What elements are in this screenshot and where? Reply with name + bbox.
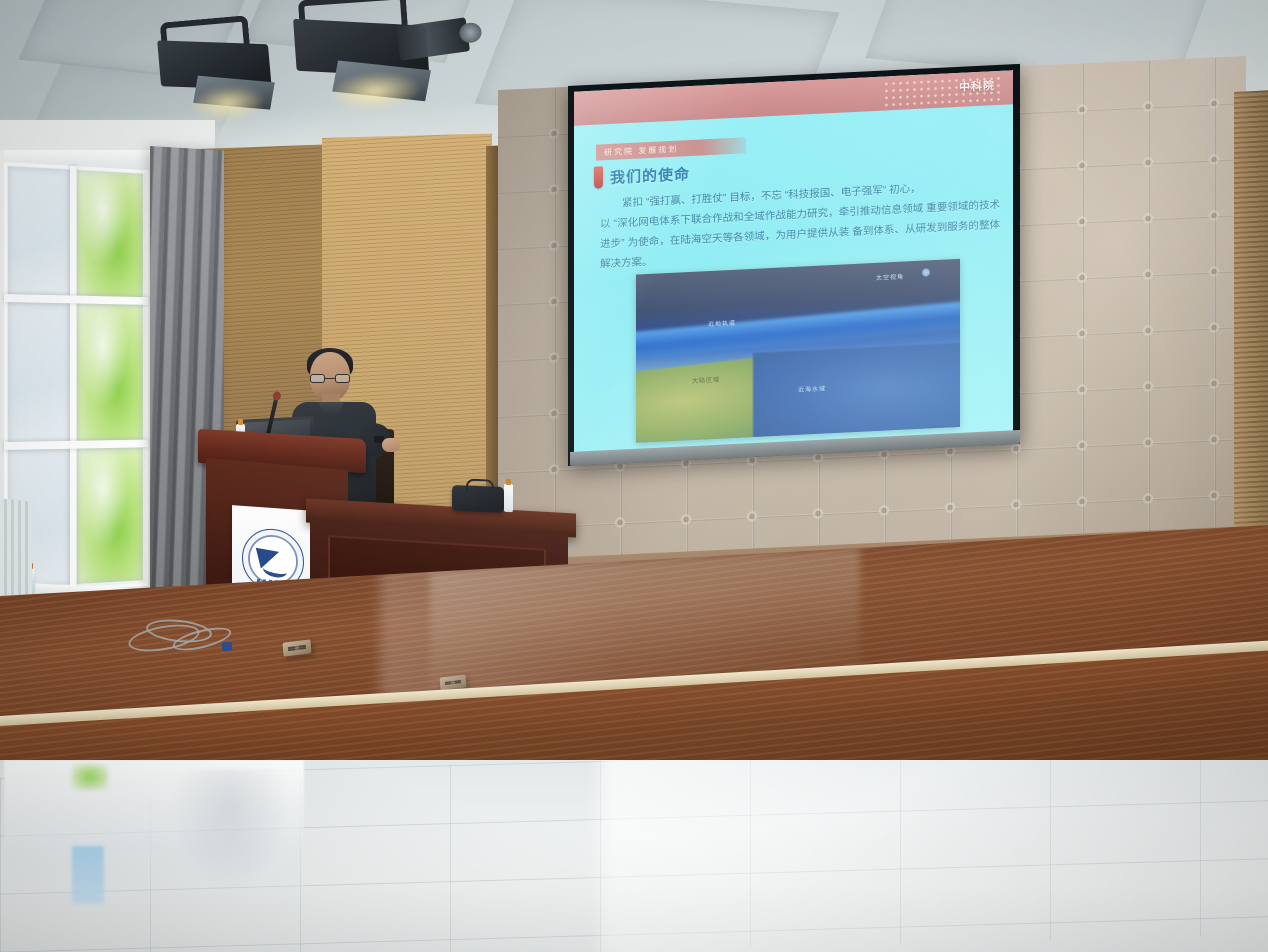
photo-label-top-right: 太空视角 [876, 272, 904, 282]
projection-screen-frame: 中科院 研究院 发展规划 我们的使命 紧扣 “强打赢、打胜仗” 目标，不忘 “科… [568, 64, 1020, 466]
window-pane [8, 166, 70, 297]
glasses-icon [310, 374, 350, 383]
stage-spotlight-right-icon [278, 0, 451, 127]
stage-spotlight-left-icon [146, 12, 290, 128]
slide-title-row: 我们的使命 [594, 162, 690, 189]
photo-label-mid-left: 近地轨道 [708, 318, 736, 328]
window-pane [8, 302, 70, 444]
slide-brandmark: 中科院 [959, 77, 995, 95]
slide-title-bullet-icon [594, 166, 603, 188]
floor-podium-reflection [170, 770, 290, 890]
photo-label-land: 大陆区域 [692, 375, 720, 385]
presentation-slide: 中科院 研究院 发展规划 我们的使命 紧扣 “强打赢、打胜仗” 目标，不忘 “科… [574, 70, 1013, 457]
window-mullion [70, 166, 77, 590]
projection-screen[interactable]: 中科院 研究院 发展规划 我们的使命 紧扣 “强打赢、打胜仗” 目标，不忘 “科… [574, 70, 1013, 457]
cable-plug [222, 642, 232, 651]
shoulder-bag [452, 485, 504, 513]
glasses-bridge [325, 378, 335, 380]
presenter-hand [382, 438, 400, 452]
glasses-lens-right [335, 374, 350, 383]
floor-tree-reflection [72, 764, 108, 790]
window-pane-trees [76, 447, 143, 584]
floor-sheen [600, 760, 1268, 952]
lecture-hall-photo: 中科院 研究院 发展规划 我们的使命 紧扣 “强打赢、打胜仗” 目标，不忘 “科… [0, 0, 1268, 952]
radiator [0, 498, 32, 597]
slide-heading: 我们的使命 [610, 163, 690, 188]
window-pane-trees [76, 170, 143, 299]
floor-sky-reflection [72, 846, 104, 904]
slide-earth-photo: 太空视角 近地轨道 近海水域 大陆区域 [636, 259, 960, 443]
slide-section-tag: 研究院 发展规划 [596, 137, 746, 160]
glasses-lens-left [310, 374, 325, 383]
coiled-cables [128, 618, 246, 656]
water-bottle [504, 484, 513, 512]
slide-section-tag-label: 研究院 发展规划 [604, 143, 678, 158]
window-pane-trees [76, 303, 143, 442]
tile-floor [0, 760, 1268, 952]
photo-label-sea: 近海水域 [798, 383, 826, 393]
photo-sea [753, 342, 960, 442]
